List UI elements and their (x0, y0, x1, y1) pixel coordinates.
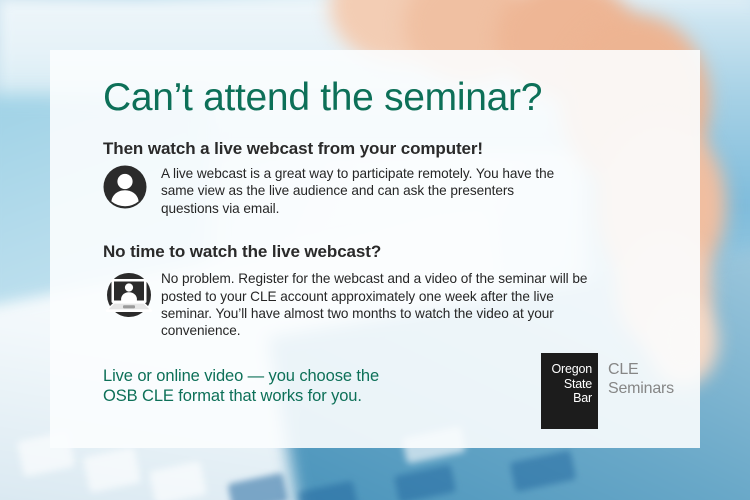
icon-column (103, 270, 161, 325)
laptop-video-icon (103, 270, 155, 325)
section-heading: Then watch a live webcast from your comp… (103, 139, 700, 159)
section-heading: No time to watch the live webcast? (103, 242, 700, 262)
logo-line-cle: CLE (608, 360, 674, 379)
logo-line-bar: Bar (545, 391, 592, 406)
page-title: Can’t attend the seminar? (103, 78, 700, 117)
osb-cle-seminars-logo: Oregon State Bar CLE Seminars (541, 353, 674, 429)
logo-line-oregon: Oregon (545, 362, 592, 377)
content-card: Can’t attend the seminar? Then watch a l… (50, 50, 700, 448)
promo-graphic: Can’t attend the seminar? Then watch a l… (0, 0, 750, 500)
person-avatar-icon (103, 165, 147, 214)
logo-line-seminars: Seminars (608, 379, 674, 398)
icon-column (103, 165, 161, 214)
section-live-webcast: Then watch a live webcast from your comp… (103, 139, 700, 217)
section-body-text: No problem. Register for the webcast and… (161, 270, 591, 340)
section-body-text: A live webcast is a great way to partici… (161, 165, 571, 217)
cle-seminars-wordmark: CLE Seminars (608, 353, 674, 398)
section-recorded-video: No time to watch the live webcast? (103, 242, 700, 340)
logo-line-state: State (545, 377, 592, 392)
oregon-state-bar-logo-box: Oregon State Bar (541, 353, 598, 429)
